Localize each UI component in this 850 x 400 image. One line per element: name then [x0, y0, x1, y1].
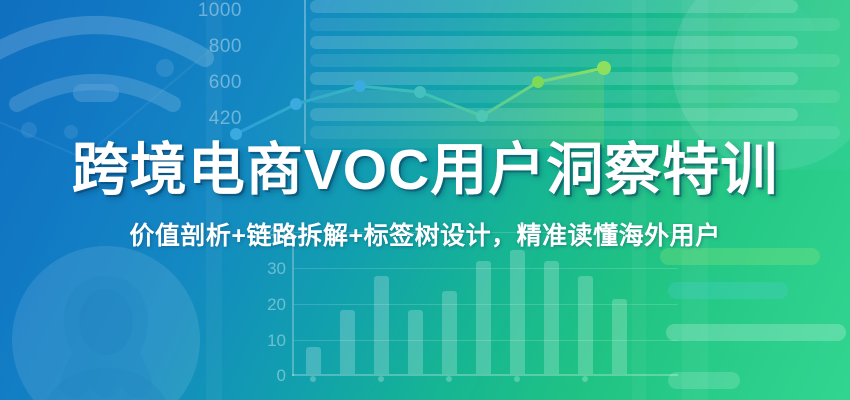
- v-bar: [476, 261, 491, 374]
- v-bar: [578, 276, 593, 374]
- y-tick-label: 10: [248, 332, 286, 349]
- line-marker: [290, 98, 302, 110]
- x-axis-dot: [378, 376, 384, 382]
- v-bar: [408, 310, 423, 374]
- banner-text-block: 跨境电商VOC用户洞察特训 价值剖析+链路拆解+标签树设计，精准读懂海外用户: [0, 140, 850, 252]
- y-tick-label: 1000: [172, 0, 242, 22]
- v-bar: [374, 276, 389, 374]
- vertical-bar-chart: 40 30 20 10 0: [248, 226, 678, 400]
- course-promo-banner: 1000 800 600 420: [0, 0, 850, 400]
- x-axis-dot: [446, 376, 452, 382]
- y-tick-label: 20: [248, 296, 286, 313]
- avatar-female: [12, 246, 200, 400]
- v-bar: [442, 291, 457, 374]
- pill-bar: [666, 324, 846, 341]
- x-axis-dot: [514, 376, 520, 382]
- v-bar: [340, 310, 355, 374]
- pill-bar: [668, 372, 740, 389]
- line-marker: [597, 61, 611, 75]
- line-trend-chart: [230, 30, 650, 150]
- female-avatar-icon: [12, 246, 200, 400]
- x-axis-dot: [582, 376, 588, 382]
- page-subtitle: 价值剖析+链路拆解+标签树设计，精准读懂海外用户: [0, 216, 850, 252]
- v-bar: [510, 250, 525, 374]
- y-tick-label: 30: [248, 260, 286, 277]
- h-bar: [310, 0, 798, 13]
- y-tick-label: 0: [248, 367, 286, 384]
- v-bar: [612, 299, 627, 374]
- line-marker: [354, 80, 366, 92]
- line-marker: [476, 110, 488, 122]
- page-title: 跨境电商VOC用户洞察特训: [0, 140, 850, 202]
- line-marker: [532, 76, 544, 88]
- v-bar: [306, 347, 321, 374]
- chart-x-axis: [292, 374, 678, 376]
- pill-bar: [668, 282, 788, 299]
- v-bar: [544, 261, 559, 374]
- line-marker: [414, 86, 426, 98]
- x-axis-dot: [310, 376, 316, 382]
